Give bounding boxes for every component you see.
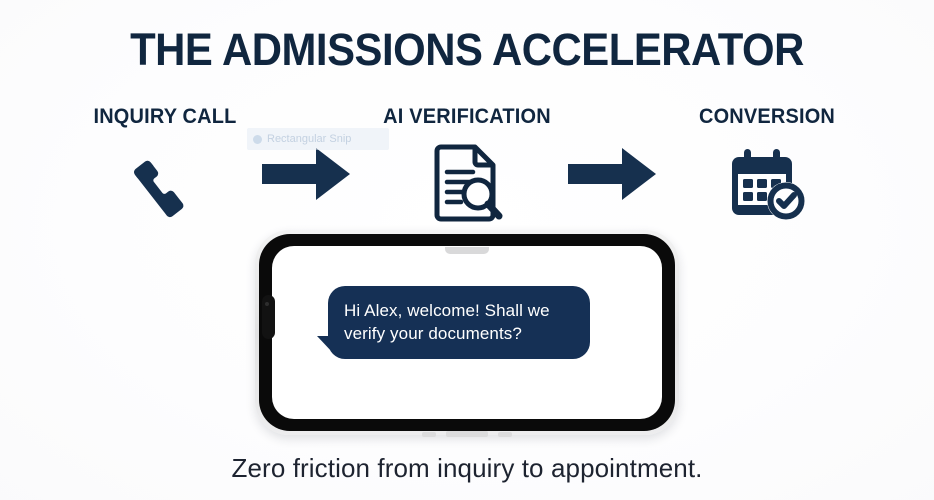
phone-mockup: Hi Alex, welcome! Shall we verify your d… bbox=[255, 230, 679, 435]
phone-handset-icon bbox=[50, 140, 280, 228]
calendar-check-icon bbox=[652, 140, 882, 228]
watermark-label: Rectangular Snip bbox=[267, 133, 351, 145]
phone-port-right bbox=[498, 432, 512, 437]
process-step-ai-verification: AI VERIFICATION bbox=[352, 104, 582, 228]
process-step-inquiry-call: INQUIRY CALL bbox=[50, 104, 280, 228]
snip-dot-icon bbox=[253, 135, 262, 144]
phone-screen: Hi Alex, welcome! Shall we verify your d… bbox=[272, 246, 662, 419]
phone-port-center bbox=[446, 431, 488, 437]
chat-bubble-incoming: Hi Alex, welcome! Shall we verify your d… bbox=[328, 286, 590, 359]
phone-port-left bbox=[422, 432, 436, 437]
screen-capture-watermark: Rectangular Snip bbox=[247, 128, 389, 150]
step-label-conversion: CONVERSION bbox=[658, 104, 877, 130]
phone-outer-frame: Hi Alex, welcome! Shall we verify your d… bbox=[255, 230, 679, 435]
chat-bubble-tail bbox=[317, 336, 333, 353]
phone-side-button[interactable] bbox=[262, 295, 275, 339]
phone-bezel: Hi Alex, welcome! Shall we verify your d… bbox=[259, 234, 675, 431]
page-title: THE ADMISSIONS ACCELERATOR bbox=[33, 24, 902, 76]
step-label-ai-verification: AI VERIFICATION bbox=[358, 104, 577, 130]
phone-notch bbox=[445, 247, 489, 254]
phone-bottom-ports bbox=[422, 431, 512, 437]
arrow-right-icon bbox=[262, 148, 350, 205]
process-steps-row: INQUIRY CALL AI VERIFICATION bbox=[0, 104, 934, 234]
step-label-inquiry-call: INQUIRY CALL bbox=[56, 104, 275, 130]
document-magnifier-icon bbox=[352, 140, 582, 228]
infographic-canvas: THE ADMISSIONS ACCELERATOR INQUIRY CALL … bbox=[0, 0, 934, 500]
footer-caption: Zero friction from inquiry to appointmen… bbox=[0, 452, 934, 484]
process-step-conversion: CONVERSION bbox=[652, 104, 882, 228]
chat-message-text: Hi Alex, welcome! Shall we verify your d… bbox=[344, 299, 574, 345]
arrow-right-icon bbox=[568, 148, 656, 205]
